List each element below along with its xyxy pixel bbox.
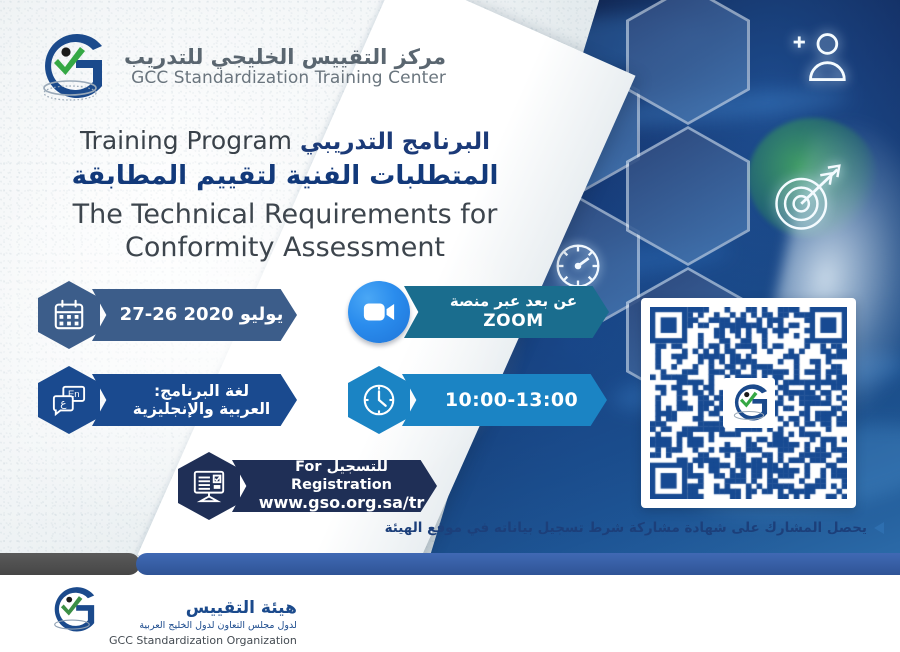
hexagon-tile-upper — [626, 0, 750, 125]
badge-date-body: 27-26 يوليو 2020 — [92, 289, 297, 341]
svg-text:ع: ع — [60, 398, 67, 410]
course-title-ar: المتطلبات الفنية لتقييم المطابقة — [20, 161, 550, 191]
clock-icon-svg — [360, 381, 398, 419]
header-title-ar: مركز التقييس الخليجي للتدريب — [124, 46, 446, 70]
hexagon-tile-right — [626, 126, 750, 266]
footer-logo: هيئة التقييس لدول مجلس التعاون لدول الخل… — [44, 583, 297, 648]
badge-platform: عن بعد عبر منصة ZOOM — [348, 281, 609, 343]
separator-bar-blue — [136, 553, 900, 575]
gcc-logo-svg — [30, 28, 110, 106]
registration-qr-code[interactable] — [641, 298, 856, 508]
gso-g-logo — [44, 583, 100, 637]
calendar-icon-svg — [52, 298, 86, 332]
monitor-form-icon-svg — [191, 468, 227, 504]
title-block: البرنامج التدريبي Training Program المتط… — [20, 126, 550, 265]
badge-platform-text-ar: عن بعد عبر منصة — [450, 293, 577, 311]
badge-time-text: 10:00-13:00 — [445, 389, 578, 411]
footer-org-ar-main: هيئة التقييس — [109, 599, 297, 618]
monitor-form-icon — [178, 452, 240, 520]
badge-registration[interactable]: للتسجيل For Registration www.gso.org.sa/… — [178, 452, 437, 520]
badge-language-body: لغة البرنامج: العربية والإنجليزية — [92, 374, 297, 426]
badge-time: 10:00-13:00 — [348, 366, 607, 434]
gcc-logo-svg-small — [726, 381, 772, 425]
calendar-icon — [38, 281, 100, 349]
badge-registration-body[interactable]: للتسجيل For Registration www.gso.org.sa/… — [232, 460, 437, 512]
course-title-en-line1: The Technical Requirements for — [20, 199, 550, 232]
clock-icon — [348, 366, 410, 434]
triangle-right-icon — [874, 522, 884, 534]
zoom-video-icon-svg — [362, 300, 396, 324]
gcc-g-check-logo — [30, 28, 110, 106]
footer-logo-text: هيئة التقييس لدول مجلس التعاون لدول الخل… — [109, 583, 297, 648]
zoom-video-icon — [348, 281, 410, 343]
certificate-note: يحصل المشارك على شهادة مشاركة شرط تسجيل … — [385, 520, 884, 536]
language-chat-icon-svg: En ع — [51, 383, 87, 417]
program-label-ar: البرنامج التدريبي — [300, 129, 490, 155]
gso-logo-svg — [44, 583, 100, 637]
footer-org-ar-sub: لدول مجلس التعاون لدول الخليج العربية — [109, 620, 297, 633]
header-logo: مركز التقييس الخليجي للتدريب GCC Standar… — [30, 28, 446, 106]
add-person-icon — [785, 28, 851, 88]
separator-bar-grey — [0, 553, 140, 575]
course-title-en: The Technical Requirements for Conformit… — [20, 199, 550, 265]
hexagon-fill — [629, 129, 747, 263]
language-chat-icon: En ع — [38, 366, 100, 434]
badge-time-body: 10:00-13:00 — [402, 374, 607, 426]
badge-registration-url[interactable]: www.gso.org.sa/tr — [258, 494, 425, 513]
footer-org-en: GCC Standardization Organization — [109, 634, 297, 648]
flyer-poster: مركز التقييس الخليجي للتدريب GCC Standar… — [0, 0, 900, 652]
badge-registration-label: للتسجيل For Registration — [258, 459, 425, 493]
badge-platform-body: عن بعد عبر منصة ZOOM — [404, 286, 609, 338]
qr-center-logo — [723, 378, 775, 428]
footer: هيئة التقييس لدول مجلس التعاون لدول الخل… — [0, 575, 900, 652]
header-title-en: GCC Standardization Training Center — [131, 69, 446, 88]
target-arrow-icon — [765, 160, 847, 238]
header-logo-text: مركز التقييس الخليجي للتدريب GCC Standar… — [124, 46, 446, 89]
badge-date: 27-26 يوليو 2020 — [38, 281, 297, 349]
hexagon-fill — [629, 0, 747, 122]
program-line: البرنامج التدريبي Training Program — [20, 126, 550, 155]
badge-language: لغة البرنامج: العربية والإنجليزية En ع — [38, 366, 297, 434]
badge-platform-text-en: ZOOM — [450, 311, 577, 331]
badge-language-label: لغة البرنامج: — [133, 382, 270, 400]
certificate-note-text: يحصل المشارك على شهادة مشاركة شرط تسجيل … — [385, 520, 867, 536]
program-label-en: Training Program — [80, 126, 292, 155]
course-title-en-line2: Conformity Assessment — [20, 232, 550, 265]
badge-date-text: 27-26 يوليو 2020 — [120, 304, 284, 325]
badge-language-value: العربية والإنجليزية — [133, 400, 270, 418]
